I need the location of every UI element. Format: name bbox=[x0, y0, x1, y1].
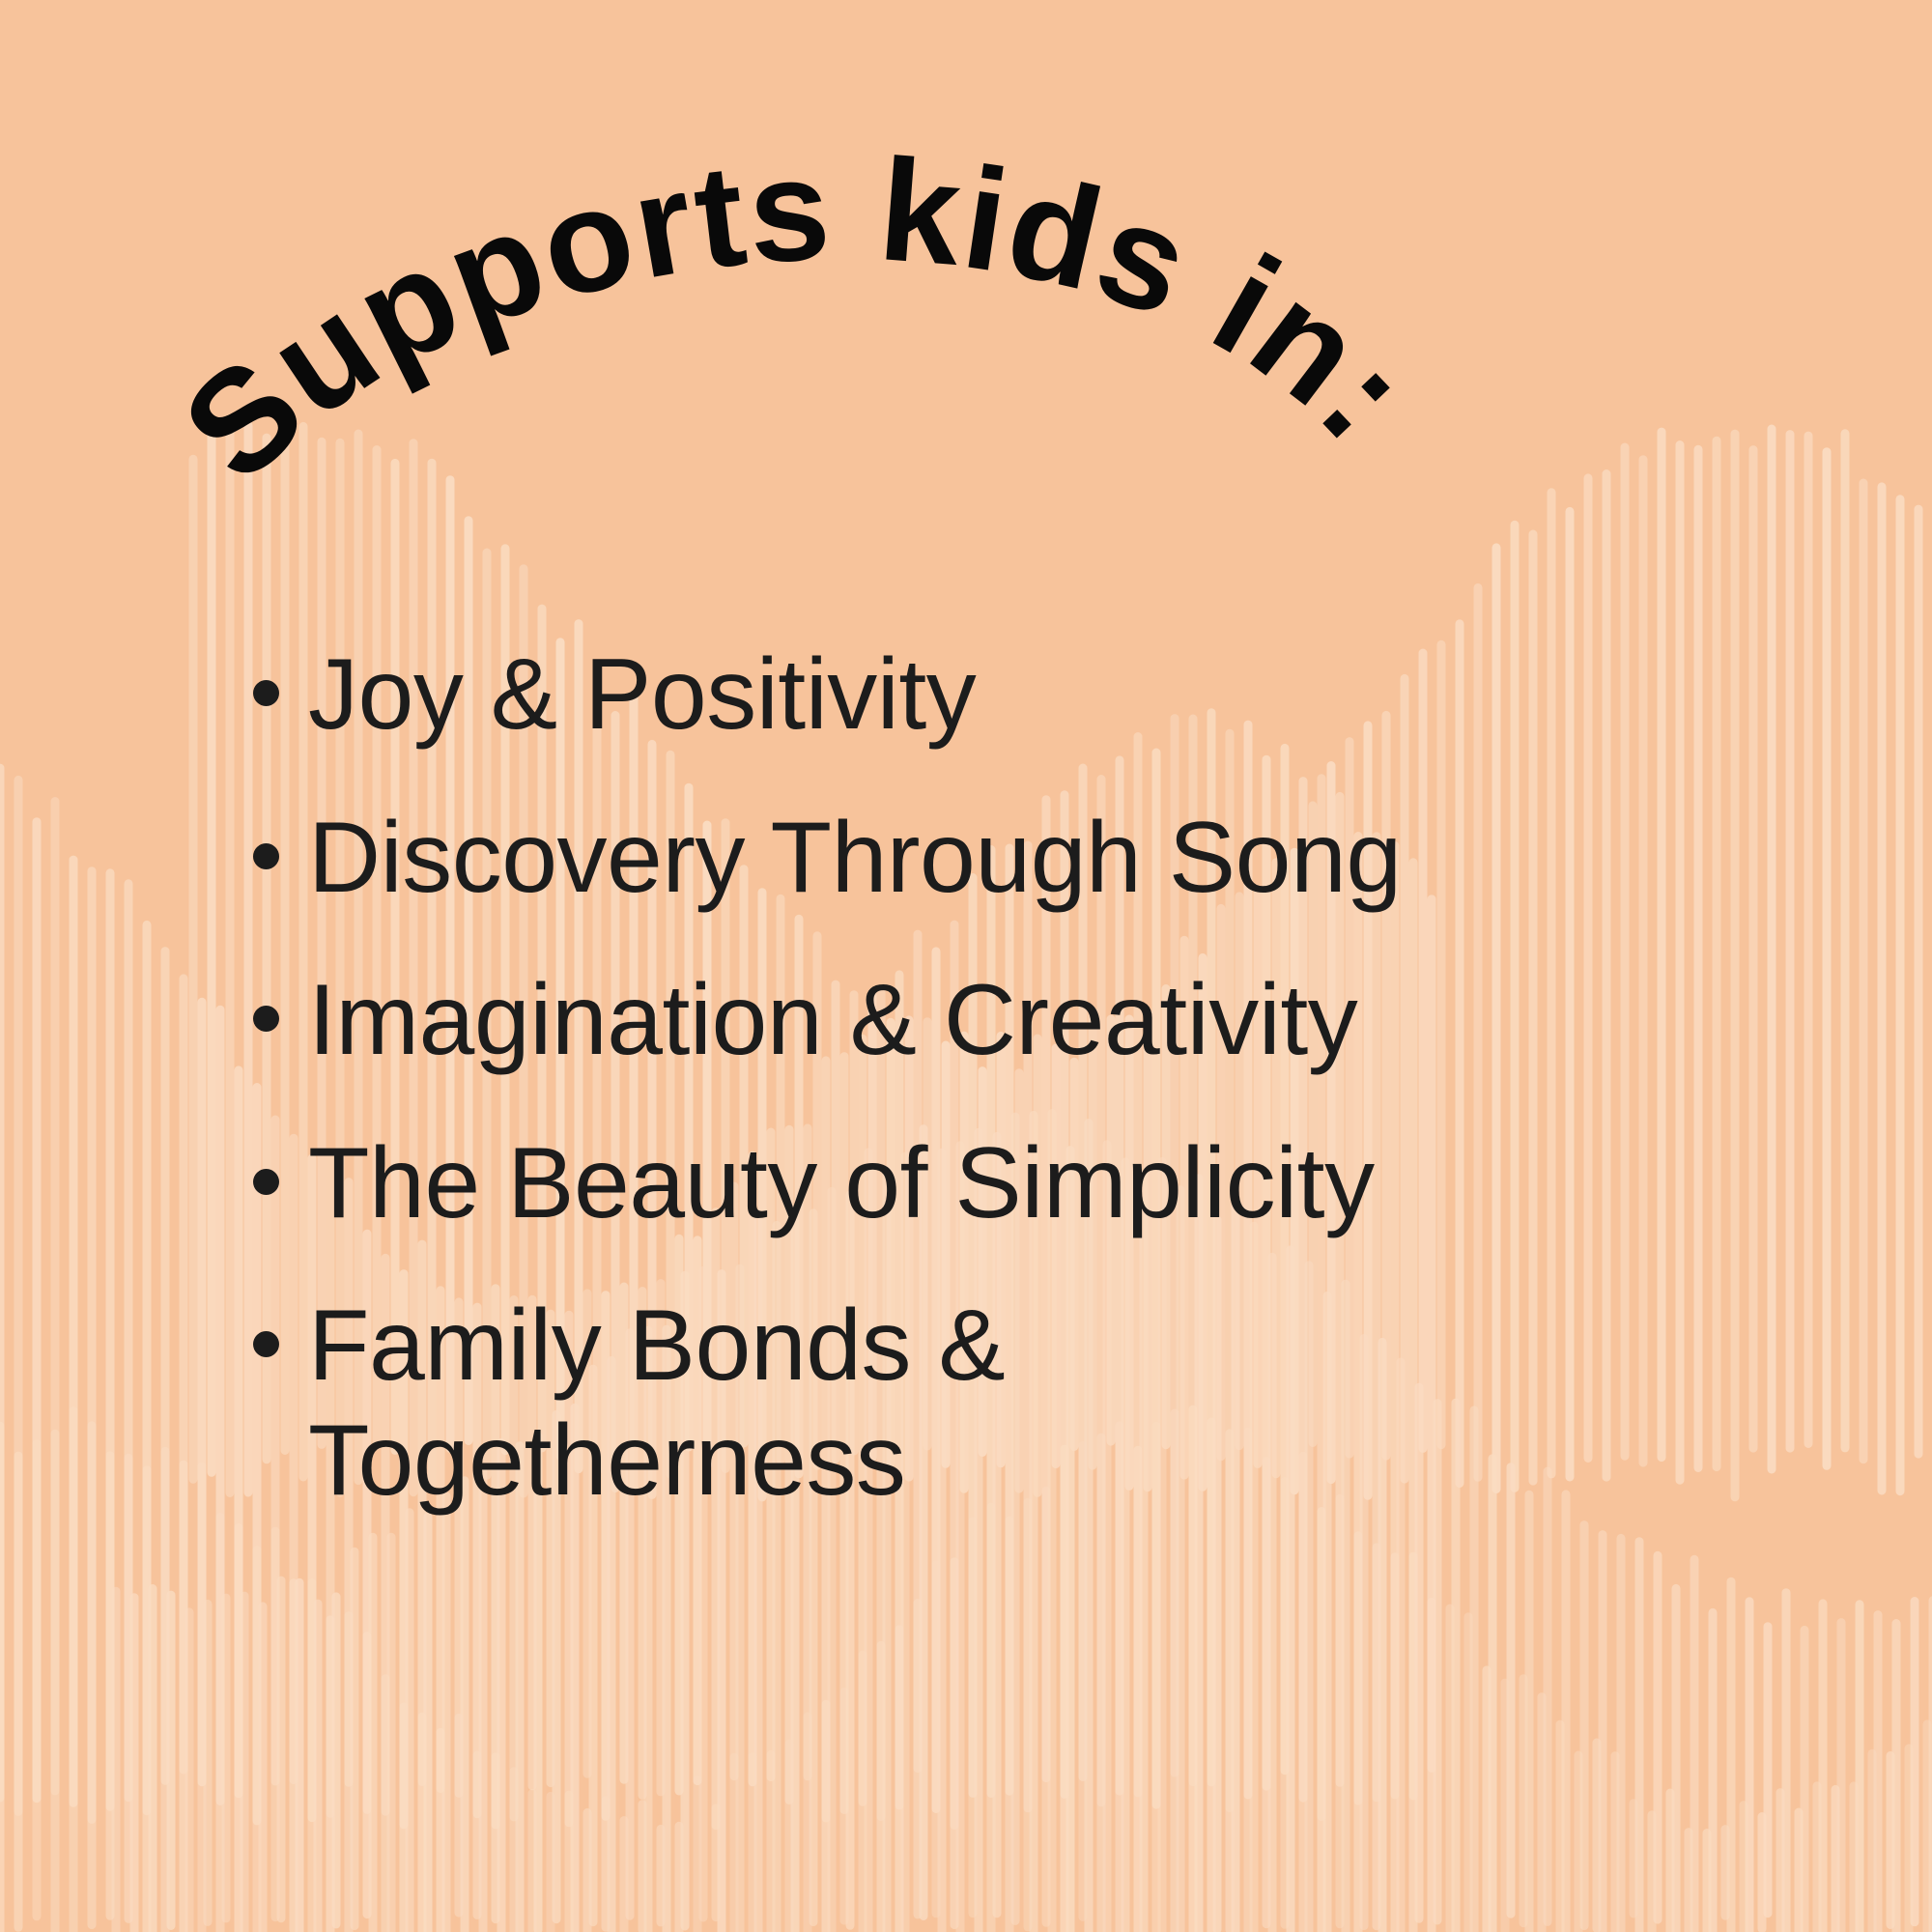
headline-textpath: Supports kids in: bbox=[153, 127, 1443, 511]
list-item: Imagination & Creativity bbox=[253, 963, 1895, 1078]
bullet-dot-icon bbox=[253, 1331, 279, 1357]
poster-canvas: Supports kids in: Joy & Positivity Disco… bbox=[0, 0, 1932, 1932]
list-item-label: Discovery Through Song bbox=[308, 801, 1895, 916]
bullet-dot-icon bbox=[253, 1006, 279, 1032]
list-item-label: Family Bonds & Togetherness bbox=[308, 1289, 1895, 1518]
bullet-dot-icon bbox=[253, 1169, 279, 1195]
headline-text: Supports kids in: bbox=[153, 127, 1443, 511]
list-item-label: Joy & Positivity bbox=[308, 638, 1895, 753]
list-item: Family Bonds & Togetherness bbox=[253, 1289, 1895, 1518]
bullet-dot-icon bbox=[253, 843, 279, 869]
list-item-label: The Beauty of Simplicity bbox=[308, 1126, 1895, 1241]
list-item: Joy & Positivity bbox=[253, 638, 1895, 753]
list-item: The Beauty of Simplicity bbox=[253, 1126, 1895, 1241]
list-item: Discovery Through Song bbox=[253, 801, 1895, 916]
benefits-list: Joy & Positivity Discovery Through Song … bbox=[253, 638, 1895, 1566]
bullet-dot-icon bbox=[253, 680, 279, 706]
list-item-label: Imagination & Creativity bbox=[308, 963, 1895, 1078]
arched-headline: Supports kids in: bbox=[0, 0, 1932, 676]
